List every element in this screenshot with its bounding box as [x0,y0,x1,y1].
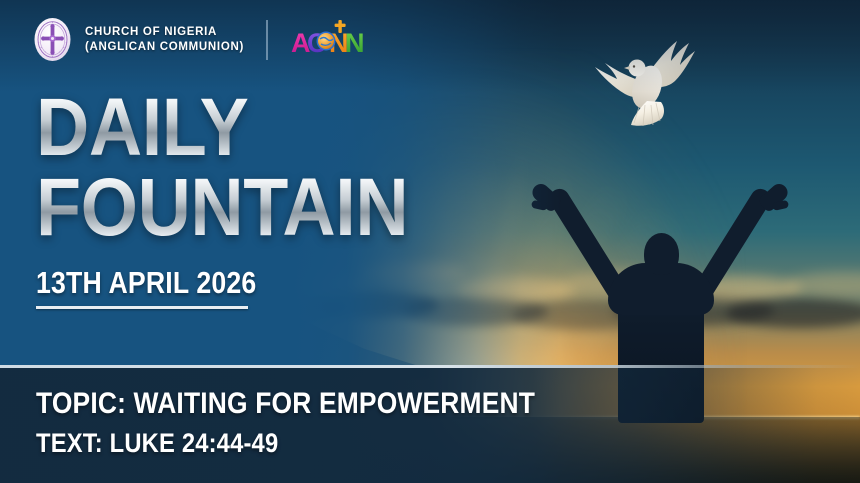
head [644,233,679,275]
org-name: CHURCH OF NIGERIA (ANGLICAN COMMUNION) [85,26,244,53]
footer-bar: TOPIC: WAITING FOR EMPOWERMENT TEXT: LUK… [0,365,860,483]
topic-text: TOPIC: WAITING FOR EMPOWERMENT [36,387,535,421]
date-underline [36,306,248,309]
date-text: 13TH APRIL 2026 [36,265,256,301]
title-block: DAILY FOUNTAIN 13TH APRIL 2026 [36,88,450,309]
org-line-2: (ANGLICAN COMMUNION) [85,41,244,53]
acnn-logo-icon: A C N N [290,19,365,61]
date-block: 13TH APRIL 2026 [36,265,292,309]
footer-top-rule [0,365,860,368]
header-divider [266,20,268,60]
org-line-1: CHURCH OF NIGERIA [85,26,244,38]
anglican-seal-icon [33,17,72,62]
title-line-2: FOUNTAIN [36,168,408,248]
svg-text:N: N [345,28,365,58]
daily-fountain-poster: CHURCH OF NIGERIA (ANGLICAN COMMUNION) [0,0,860,483]
scripture-text: TEXT: LUKE 24:44-49 [36,428,278,459]
title-line-1: DAILY [36,88,408,168]
brand-header: CHURCH OF NIGERIA (ANGLICAN COMMUNION) [33,17,365,62]
